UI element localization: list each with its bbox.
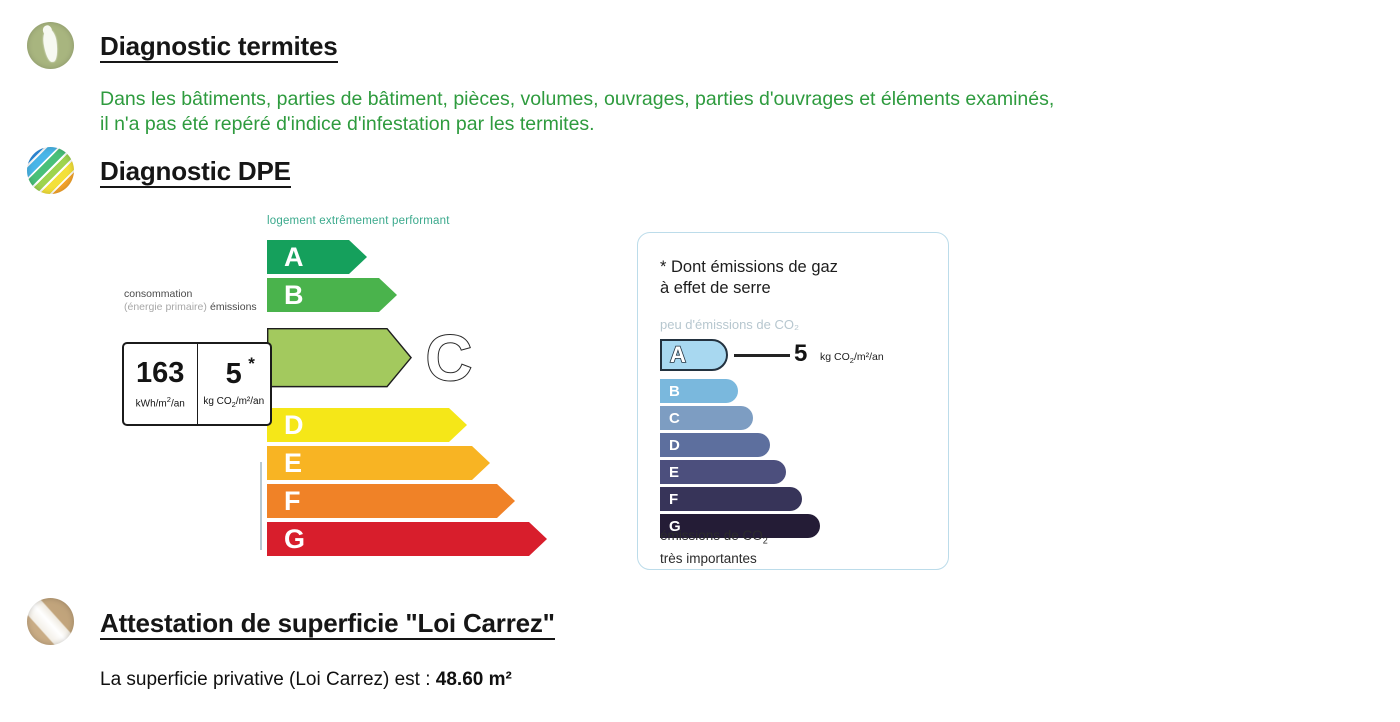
heading-diagnostic-termites: Diagnostic termites xyxy=(100,33,338,63)
co2-bar-a-selected: A 5 kg CO2/m²/an xyxy=(660,339,930,373)
co2-bar-letter: D xyxy=(669,438,680,453)
co2-footer-line1: émissions de CO xyxy=(660,528,763,543)
co2-bar-shape-a: A xyxy=(660,339,728,371)
heading-attestation-superficie: Attestation de superficie "Loi Carrez" xyxy=(100,610,555,640)
dpe-band-a: A xyxy=(267,240,367,274)
co2-leader-line xyxy=(734,354,790,357)
dpe-energy-label: logement extrêmement performant logement… xyxy=(100,212,980,582)
heading-diagnostic-dpe: Diagnostic DPE xyxy=(100,158,291,188)
dpe-band-g: G xyxy=(267,522,547,556)
dpe-band-b: B xyxy=(267,278,397,312)
dpe-band-letter: A xyxy=(284,244,304,271)
rainbow-icon xyxy=(27,147,74,194)
dpe-band-letter: F xyxy=(284,488,301,515)
band-shape-a xyxy=(267,240,367,274)
co2-footer-sub: 2 xyxy=(763,536,768,546)
termite-icon xyxy=(27,22,74,69)
unit-suffix: /m²/an xyxy=(854,351,884,363)
carrez-body: La superficie privative (Loi Carrez) est… xyxy=(100,668,512,692)
co2-bar-letter: C xyxy=(669,411,680,426)
co2-value: 5 xyxy=(794,342,807,366)
unit-suffix: /an xyxy=(171,398,185,409)
band-shape-c xyxy=(267,328,412,387)
dpe-band-e: E xyxy=(267,446,490,480)
co2-bar-shape-b: B xyxy=(660,379,738,403)
dpe-band-f: F xyxy=(267,484,515,518)
unit-prefix: kWh/m xyxy=(136,398,167,409)
unit-suffix: /m²/an xyxy=(236,396,264,407)
dpe-emissions-cell: 5* kg CO2/m²/an xyxy=(198,344,271,424)
co2-bar-shape-f: F xyxy=(660,487,802,511)
co2-bar-shape-e: E xyxy=(660,460,786,484)
co2-bar-f: F xyxy=(660,487,930,511)
dpe-value-box: 163 kWh/m2/an 5* kg CO2/m²/an xyxy=(122,342,272,426)
co2-subtitle: peu d'émissions de CO₂ xyxy=(660,317,799,332)
dpe-band-d: D xyxy=(267,408,467,442)
co2-title-line2: à effet de serre xyxy=(660,279,771,297)
dpe-consumption-cell: 163 kWh/m2/an xyxy=(124,344,198,424)
dpe-band-letter: B xyxy=(284,282,304,309)
co2-panel-title: * Dont émissions de gaz à effet de serre xyxy=(660,257,838,299)
co2-bar-shape-c: C xyxy=(660,406,753,430)
co2-title-line1: * Dont émissions de gaz xyxy=(660,258,838,276)
dpe-band-letter: G xyxy=(284,526,305,553)
dpe-band-letter-selected: C xyxy=(426,326,472,390)
emissions-number: 5 xyxy=(226,358,242,390)
co2-bar-shape-d: D xyxy=(660,433,770,457)
dpe-consumption-value: 163 xyxy=(136,359,184,388)
dpe-emissions-unit: kg CO2/m²/an xyxy=(203,396,264,409)
unit-prefix: kg CO xyxy=(820,351,850,363)
dpe-band-letter: E xyxy=(284,450,302,477)
co2-bar-letter: B xyxy=(669,384,680,399)
termite-glyph xyxy=(42,28,59,62)
co2-panel: * Dont émissions de gaz à effet de serre… xyxy=(637,232,949,570)
co2-bar-list: A 5 kg CO2/m²/an B C xyxy=(660,339,930,541)
co2-bar-letter-selected: A xyxy=(670,344,686,366)
co2-bar-d: D xyxy=(660,433,930,457)
co2-value-unit: kg CO2/m²/an xyxy=(820,351,884,365)
dpe-emissions-label: émissions xyxy=(210,301,257,313)
tape-measure-icon xyxy=(27,598,74,645)
dpe-band-c-selected: C xyxy=(267,316,472,400)
consumption-label-line1: consommation xyxy=(124,288,192,300)
document-page: Diagnostic termites Dans les bâtiments, … xyxy=(0,0,1400,722)
dpe-emissions-value: 5* xyxy=(226,360,242,389)
co2-bar-e: E xyxy=(660,460,930,484)
co2-bar-letter: F xyxy=(669,492,678,507)
co2-footer: émissions de CO2 très importantes xyxy=(660,527,768,567)
carrez-body-prefix: La superficie privative (Loi Carrez) est… xyxy=(100,669,436,690)
unit-prefix: kg CO xyxy=(203,396,231,407)
termites-body-line-1: Dans les bâtiments, parties de bâtiment,… xyxy=(100,87,1054,112)
carrez-surface-value: 48.60 m² xyxy=(436,669,512,690)
co2-footer-line2: très importantes xyxy=(660,551,757,566)
band-shape-f xyxy=(267,484,515,518)
co2-bar-c: C xyxy=(660,406,930,430)
dpe-consumption-unit: kWh/m2/an xyxy=(136,395,185,409)
termites-body-line-2: il n'a pas été repéré d'indice d'infesta… xyxy=(100,112,595,137)
co2-bar-b: B xyxy=(660,379,930,403)
band-shape-g xyxy=(267,522,547,556)
co2-bar-letter: E xyxy=(669,465,679,480)
consumption-label-line2: (énergie primaire) xyxy=(124,301,207,313)
dpe-band-letter: D xyxy=(284,412,304,439)
emissions-footnote-star: * xyxy=(248,355,255,372)
